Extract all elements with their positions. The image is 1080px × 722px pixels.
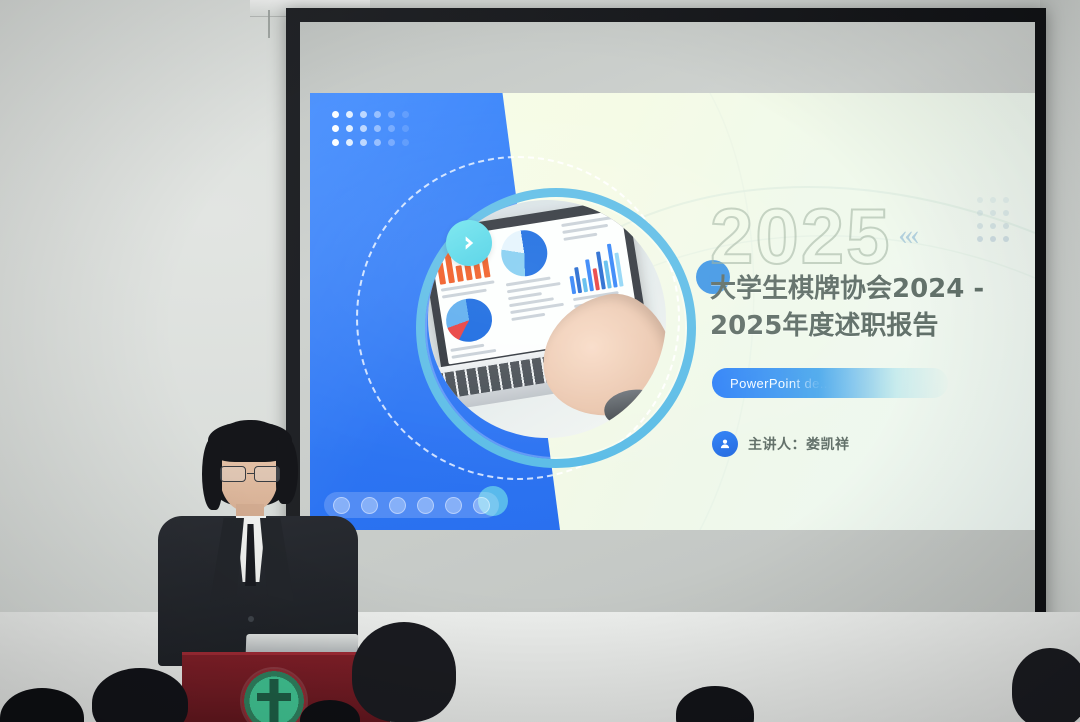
slide-menu-icon[interactable] (389, 497, 406, 514)
year-watermark: 2025 (710, 197, 892, 275)
pie-chart-secondary (443, 295, 495, 345)
room-photo-scene: 2025 ‹‹‹ 大学生棋牌协会2024 - 2025年度述职报告 PowerP… (0, 0, 1080, 722)
suit-button (248, 616, 254, 622)
chevron-right-icon (446, 220, 492, 266)
screen-pull-cord (268, 10, 270, 38)
pill-label: PowerPoint de... (730, 376, 832, 391)
user-icon (712, 431, 738, 457)
pie-chart-primary (498, 227, 551, 280)
audience-head (352, 622, 456, 722)
university-crest-icon (242, 669, 306, 722)
slide-hero-graphic (370, 148, 705, 483)
quote-marks-icon: ‹‹‹ (898, 218, 916, 252)
presenter-hair-left (202, 438, 222, 510)
presenter-credit: 主讲人：娄凯祥 (712, 431, 850, 457)
powerpoint-design-pill: PowerPoint de... (712, 368, 948, 398)
grid-view-icon[interactable] (445, 497, 462, 514)
multicolor-bar-chart (565, 236, 629, 294)
eyeglasses (220, 466, 280, 481)
presenter-name: 主讲人：娄凯祥 (748, 434, 850, 454)
highlighter-icon[interactable] (417, 497, 434, 514)
slide-title: 大学生棋牌协会2024 - 2025年度述职报告 (710, 271, 1020, 345)
dot-grid-left (332, 111, 409, 146)
projected-slide: 2025 ‹‹‹ 大学生棋牌协会2024 - 2025年度述职报告 PowerP… (310, 93, 1035, 530)
more-options-icon[interactable] (473, 497, 490, 514)
slide-text-content: 2025 ‹‹‹ 大学生棋牌协会2024 - 2025年度述职报告 PowerP… (698, 93, 1035, 530)
audience-head (1012, 648, 1080, 722)
